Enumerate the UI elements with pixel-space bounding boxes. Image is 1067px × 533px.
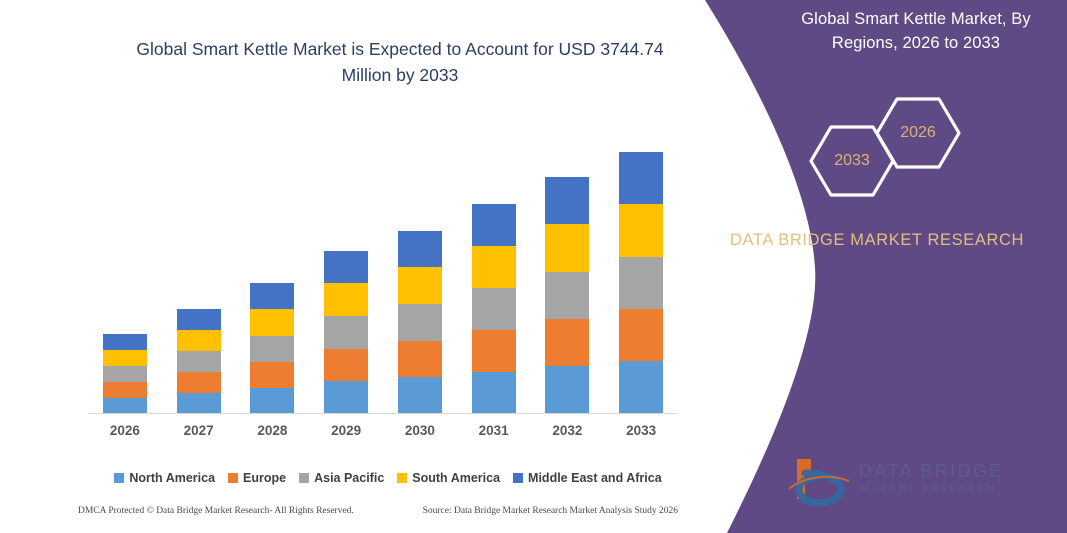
bar-segment	[103, 334, 147, 350]
footer-source: Source: Data Bridge Market Research Mark…	[423, 506, 678, 516]
bar-segment	[398, 231, 442, 267]
bar-segment	[324, 381, 368, 414]
bar-segment	[545, 224, 589, 272]
bar-column-2026	[103, 334, 147, 414]
legend-label: Asia Pacific	[314, 471, 384, 485]
data-bridge-logo: DATA BRIDGE MARKET RESEARCH	[785, 455, 1005, 510]
bar-segment	[619, 361, 663, 414]
legend-label: Middle East and Africa	[528, 471, 662, 485]
bar-segment	[103, 350, 147, 366]
x-axis-label-2030: 2030	[385, 423, 455, 438]
bar-segment	[324, 251, 368, 283]
x-axis-label-2032: 2032	[532, 423, 602, 438]
bar-segment	[619, 204, 663, 257]
legend-swatch-icon	[114, 473, 124, 483]
legend-swatch-icon	[299, 473, 309, 483]
bar-segment	[177, 330, 221, 351]
footer: DMCA Protected © Data Bridge Market Rese…	[78, 506, 678, 516]
bar-segment	[103, 398, 147, 414]
data-bridge-b-mark-icon	[785, 455, 855, 507]
bar-segment	[472, 330, 516, 372]
bar-segment	[324, 316, 368, 349]
bar-segment	[398, 267, 442, 304]
bar-segment	[250, 309, 294, 336]
stacked-bar-chart-plot	[88, 130, 678, 414]
bar-segment	[619, 152, 663, 204]
x-axis-label-2026: 2026	[90, 423, 160, 438]
x-axis-label-2027: 2027	[164, 423, 234, 438]
x-axis-label-2031: 2031	[459, 423, 529, 438]
panel-title: Global Smart Kettle Market, By Regions, …	[775, 8, 1057, 56]
bar-segment	[472, 288, 516, 330]
bar-segment	[398, 341, 442, 377]
hexagon-badges: 2033 2026	[747, 95, 1067, 205]
page-title: Global Smart Kettle Market is Expected t…	[120, 36, 680, 89]
legend-label: South America	[412, 471, 500, 485]
bar-column-2028	[250, 283, 294, 414]
legend-item[interactable]: North America	[114, 471, 215, 485]
bar-segment	[472, 204, 516, 246]
bar-segment	[472, 246, 516, 288]
bar-segment	[545, 177, 589, 224]
logo-text-data-bridge: DATA BRIDGE	[859, 461, 1004, 482]
x-axis-tick-labels: 20262027202820292030203120322033	[88, 423, 678, 445]
bar-segment	[619, 257, 663, 309]
bar-column-2029	[324, 251, 368, 414]
bar-column-2031	[472, 204, 516, 414]
bar-column-2032	[545, 177, 589, 414]
legend-item[interactable]: Middle East and Africa	[513, 471, 662, 485]
x-axis-label-2033: 2033	[606, 423, 676, 438]
legend-item[interactable]: Asia Pacific	[299, 471, 384, 485]
legend-label: Europe	[243, 471, 286, 485]
bar-column-2033	[619, 152, 663, 414]
legend-swatch-icon	[397, 473, 407, 483]
bar-segment	[177, 309, 221, 330]
brand-panel: Global Smart Kettle Market, By Regions, …	[687, 0, 1067, 533]
bar-segment	[177, 372, 221, 393]
bar-segment	[250, 388, 294, 414]
x-axis-line	[88, 413, 678, 414]
legend-swatch-icon	[513, 473, 523, 483]
hexagon-badge-2026: 2026	[875, 95, 961, 171]
bar-segment	[545, 272, 589, 319]
footer-copyright: DMCA Protected © Data Bridge Market Rese…	[78, 506, 354, 516]
legend-item[interactable]: Europe	[228, 471, 286, 485]
bar-column-2027	[177, 309, 221, 414]
bar-segment	[324, 283, 368, 316]
bar-segment	[619, 309, 663, 361]
logo-text-market-research: MARKET RESEARCH	[861, 483, 997, 493]
brand-name: DATA BRIDGE MARKET RESEARCH	[727, 228, 1027, 253]
legend-swatch-icon	[228, 473, 238, 483]
bar-segment	[250, 283, 294, 309]
chart-legend: North AmericaEuropeAsia PacificSouth Ame…	[88, 471, 688, 485]
hexagon-label-2026: 2026	[875, 95, 961, 171]
bar-segment	[177, 351, 221, 372]
bar-segment	[103, 366, 147, 382]
bar-segment	[398, 304, 442, 341]
infographic-page: Global Smart Kettle Market is Expected t…	[0, 0, 1067, 533]
x-axis-label-2028: 2028	[237, 423, 307, 438]
legend-label: North America	[129, 471, 215, 485]
bar-segment	[472, 372, 516, 414]
bar-segment	[324, 349, 368, 381]
bar-segment	[177, 393, 221, 414]
bar-segment	[398, 377, 442, 414]
bar-segment	[103, 382, 147, 398]
bar-segment	[250, 362, 294, 388]
bar-segment	[545, 366, 589, 414]
bar-column-2030	[398, 231, 442, 414]
bar-segment	[545, 319, 589, 366]
bar-segment	[250, 336, 294, 362]
x-axis-label-2029: 2029	[311, 423, 381, 438]
legend-item[interactable]: South America	[397, 471, 500, 485]
